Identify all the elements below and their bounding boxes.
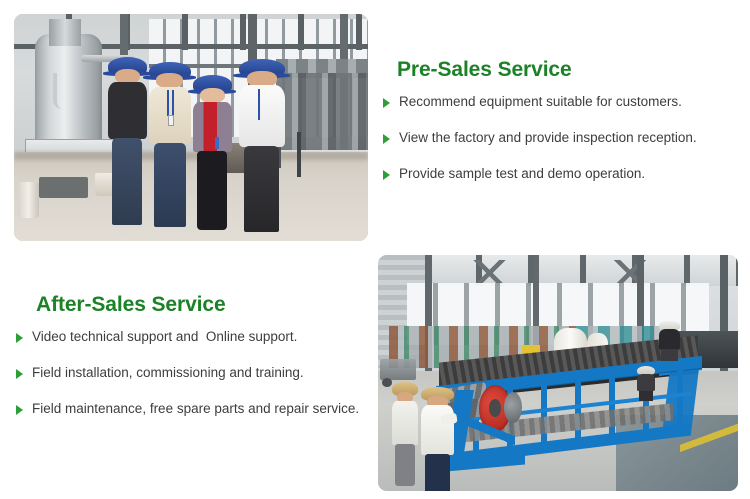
triangle-bullet-icon xyxy=(16,405,23,415)
legs xyxy=(395,444,414,487)
steel-silo-tank xyxy=(35,34,102,152)
silo-chimney xyxy=(49,19,81,46)
head xyxy=(156,73,183,88)
aftersales-service-block: After-Sales Service Video technical supp… xyxy=(16,293,376,418)
roof-truss xyxy=(605,260,655,286)
list-item-label: Video technical support and Online suppo… xyxy=(32,329,376,345)
conveyor-belt-machine-photo xyxy=(378,255,738,491)
legs xyxy=(154,143,186,228)
list-item: Field installation, commissioning and tr… xyxy=(16,365,376,381)
list-item: Field maintenance, free spare parts and … xyxy=(16,401,376,417)
triangle-bullet-icon xyxy=(16,369,23,379)
legs xyxy=(425,454,450,491)
roof-beams xyxy=(378,255,738,286)
service-info-banner: { "presales": { "title": "Pre-Sales Serv… xyxy=(0,0,750,499)
worker-front xyxy=(421,387,453,491)
triangle-bullet-icon xyxy=(383,98,390,108)
factory-visit-photo xyxy=(14,14,368,241)
visitor-dark-shirt xyxy=(108,57,147,225)
torso xyxy=(421,405,453,455)
visitor-red-top xyxy=(193,75,232,229)
torso xyxy=(637,374,655,392)
silo-pipe xyxy=(53,73,67,109)
torso xyxy=(392,401,417,445)
floor-pole xyxy=(297,132,301,177)
head xyxy=(200,88,225,103)
background-machinery xyxy=(276,73,368,150)
list-item: Video technical support and Online suppo… xyxy=(16,329,376,345)
floor-shadow xyxy=(14,152,368,160)
list-item-label: Provide sample test and demo operation. xyxy=(399,166,742,182)
triangle-bullet-icon xyxy=(383,170,390,180)
lanyard xyxy=(258,89,265,120)
legs xyxy=(244,146,279,232)
worker-left xyxy=(392,382,417,486)
worker-crouching xyxy=(637,366,655,401)
list-item-label: Recommend equipment suitable for custome… xyxy=(399,94,742,110)
roof-truss xyxy=(461,260,519,286)
worker-far-right xyxy=(659,321,681,361)
id-badge xyxy=(215,137,220,149)
floor-crate xyxy=(39,177,89,197)
list-item: Recommend equipment suitable for custome… xyxy=(383,94,742,110)
triangle-bullet-icon xyxy=(16,333,23,343)
lanyard xyxy=(167,90,174,117)
visitor-white-shirt xyxy=(239,59,285,232)
list-item: View the factory and provide inspection … xyxy=(383,130,742,146)
presales-bullet-list: Recommend equipment suitable for custome… xyxy=(397,94,742,183)
aftersales-bullet-list: Video technical support and Online suppo… xyxy=(16,329,376,418)
torso xyxy=(108,82,147,139)
list-item-label: View the factory and provide inspection … xyxy=(399,130,742,146)
hand-cart xyxy=(380,359,416,380)
legs xyxy=(197,151,227,230)
presales-title: Pre-Sales Service xyxy=(397,58,742,81)
legs xyxy=(112,138,142,225)
torso xyxy=(659,329,681,350)
list-item: Provide sample test and demo operation. xyxy=(383,166,742,182)
id-badge xyxy=(168,115,174,127)
list-item-label: Field maintenance, free spare parts and … xyxy=(32,401,376,417)
triangle-bullet-icon xyxy=(383,134,390,144)
legs xyxy=(639,391,653,402)
torso xyxy=(193,102,232,153)
presales-service-block: Pre-Sales Service Recommend equipment su… xyxy=(397,58,742,183)
aftersales-title: After-Sales Service xyxy=(36,293,376,316)
legs xyxy=(661,349,677,361)
floor-drum xyxy=(18,182,39,218)
list-item-label: Field installation, commissioning and tr… xyxy=(32,365,376,381)
visitor-cream-polo xyxy=(149,62,191,228)
